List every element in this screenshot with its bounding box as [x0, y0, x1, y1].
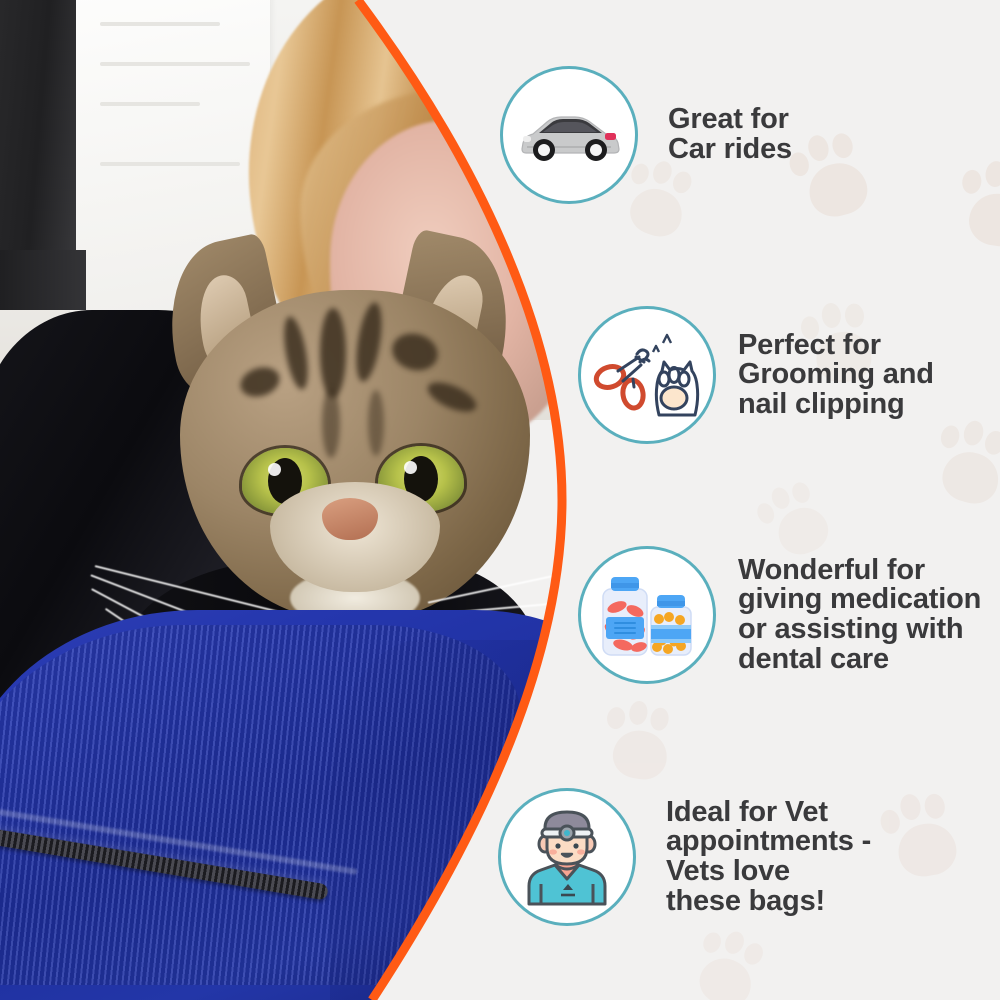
veterinarian-icon-glyph [515, 808, 619, 906]
feature-label: Great for Car rides [668, 105, 792, 164]
car-icon [500, 66, 638, 204]
medicine-bottles-icon-glyph [593, 567, 701, 663]
nail-clipper-paw-icon [578, 306, 716, 444]
feature-label: Ideal for Vet appointments - Vets love t… [666, 798, 871, 916]
photo-monitor [0, 0, 76, 290]
feature-item-grooming: Perfect for Grooming and nail clipping [578, 306, 934, 444]
medicine-bottles-icon [578, 546, 716, 684]
photo-monitor-stand [0, 250, 86, 310]
feature-label: Wonderful for giving medication or assis… [738, 556, 981, 674]
feature-item-car-rides: Great for Car rides [500, 66, 792, 204]
feature-item-vet-appointments: Ideal for Vet appointments - Vets love t… [498, 788, 871, 926]
infographic-root: Great for Car rides [0, 0, 1000, 1000]
car-icon-glyph [517, 103, 621, 167]
feature-label: Perfect for Grooming and nail clipping [738, 331, 934, 420]
paw-watermark [593, 693, 691, 794]
veterinarian-icon [498, 788, 636, 926]
feature-item-medication: Wonderful for giving medication or assis… [578, 546, 981, 684]
paw-watermark [872, 783, 977, 892]
nail-clipper-paw-icon-glyph [593, 327, 701, 423]
